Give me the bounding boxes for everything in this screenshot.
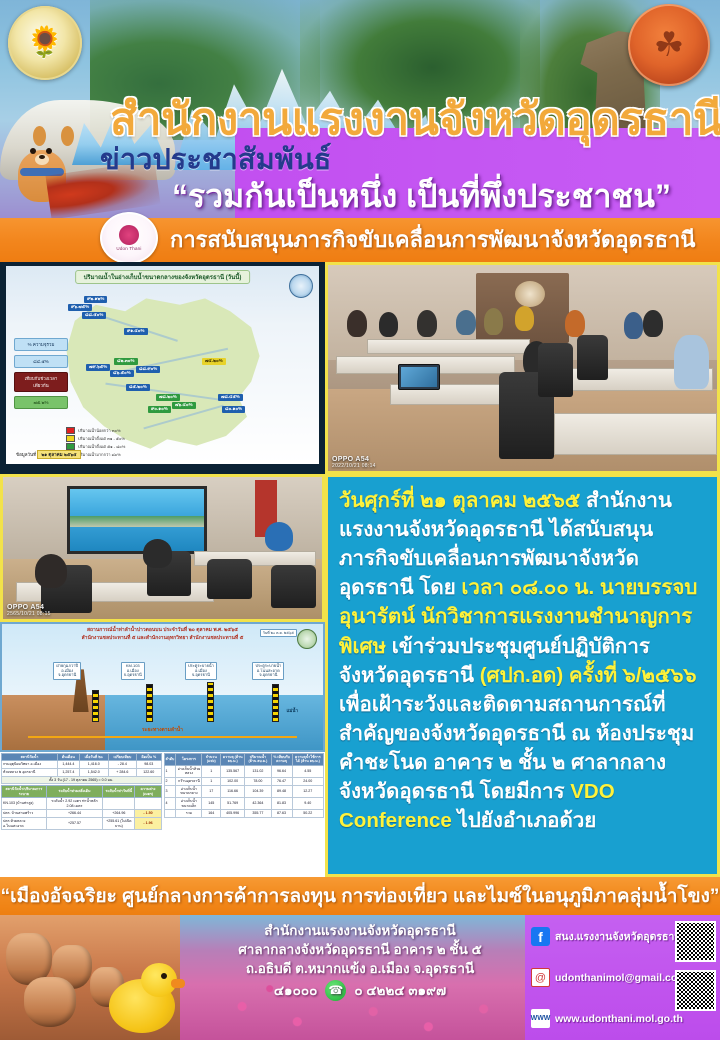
table-row: 2กว๊านอุดรธานี1102.0078.0076.4724.00	[164, 777, 324, 785]
table-row: ปตร. บ้านสามพร้าว+266.44+264.96- 1.50	[2, 810, 162, 818]
reservoir-capacity-table: ลำดับโครงการจำนวน (แห่ง)ความจุ (ล้าน ลบ.…	[164, 753, 325, 818]
diagram-title-line2: สำนักงานชลประทานที่ ๕ และสำนักงานอุทกวิท…	[82, 635, 244, 641]
table-cell: 1,444.4	[58, 761, 80, 769]
map-district-pill: ๘๘.๕๐%	[82, 312, 106, 319]
legend-swatch	[66, 435, 75, 442]
table-header-cell: ปริมาณน้ำ (ล้าน ลบ.ม.)	[245, 754, 271, 766]
mascot-ear-right	[61, 126, 74, 146]
phone-number: ๐ ๔๒๒๔ ๓๑๙๗	[354, 981, 446, 1000]
photo-chair	[538, 343, 573, 397]
table-row: ตั้ง 3 วัน (17 - 19 ตุลาคม 2565) = 0.0 ม…	[2, 776, 162, 784]
table-header-cell: ระดับน้ำท่วมตลิ่งเดิม	[46, 786, 102, 798]
table-cell: กว๊านอุดรธานี	[176, 777, 202, 785]
table-cell: 89.48	[271, 785, 292, 797]
table-header-cell: ลำดับ	[164, 754, 176, 766]
table-cell: 87.63	[271, 810, 292, 818]
address-line-3: ถ.อธิบดี ต.หมากแข้ง อ.เมือง จ.อุดรธานี	[195, 959, 525, 978]
diagram-gauge-post	[207, 682, 214, 722]
udon-thani-province-seal: ☘	[628, 4, 710, 86]
table-header-cell: ความจุน้ำใช้การได้ (ล้าน ลบ.ม.)	[292, 754, 323, 766]
rubber-duck-photo	[105, 963, 181, 1035]
projection-screen	[67, 486, 207, 554]
map-district-pill: ๘๖.๕๐%	[110, 370, 134, 377]
qr-pattern	[677, 972, 714, 1009]
photo-attendee	[484, 308, 503, 335]
table-cell: +257.57	[46, 817, 102, 829]
diagram-title-line1: สถานการณ์น้ำท่าลำน้ำปาวตอนบน ประจำวันที่…	[87, 627, 238, 633]
photo2-watermark: OPPO A54 2565/10/21 08:15	[7, 604, 51, 617]
table-cell	[135, 797, 161, 809]
diagram-route-label: ระยะทางตามลำน้ำ	[142, 726, 183, 734]
reservoir-map-card: ปริมาณน้ำในอ่างเก็บน้ำขนาดกลางของจังหวัด…	[0, 262, 325, 474]
table-cell: + 284.6	[108, 768, 136, 776]
ministry-of-labour-emblem: 🌻	[8, 6, 82, 80]
map-district-pill: ๙๖.๗๕%	[68, 304, 92, 311]
diagram-gauge-post	[272, 684, 279, 722]
table-cell: 98.03	[137, 761, 161, 769]
news-text-segment: วันศุกร์ที่ ๒๑ ตุลาคม ๒๕๖๕	[339, 489, 586, 512]
table-cell: 116.66	[221, 785, 245, 797]
website-label[interactable]: www.udonthani.mol.go.th	[555, 1013, 683, 1025]
station-province: จ.อุดรธานี	[259, 672, 277, 677]
table-cell: 4.55	[292, 765, 323, 777]
map-compare-label: เทียบกับช่วงเวลาเดียวกัน	[14, 372, 68, 392]
table-cell: ระดับน้ำ 2.92 เมตร ท่าน้ำหลัก 2.08 เมตร	[46, 797, 102, 809]
photo-attendee	[515, 306, 534, 331]
table-row: สถานีวัดน้ำต้นเดือนเมื่อวันที่ ๒๐เปรียบเ…	[2, 754, 162, 761]
table-cell: 102.00	[221, 777, 245, 785]
province-slogan-bar: “เมืองอัจฉริยะ ศูนย์กลางการค้าการลงทุน ก…	[0, 877, 720, 915]
map-title: ปริมาณน้ำในอ่างเก็บน้ำขนาดกลางของจังหวัด…	[75, 270, 251, 284]
table-cell: 1	[202, 777, 221, 785]
qr-pattern	[677, 923, 714, 960]
news-text-segment: เพื่อเฝ้าระวังและติดตามสถานการณ์ที่สำคัญ…	[339, 693, 694, 803]
table-header-cell: ความต่าง (เมตร)	[135, 786, 161, 798]
table-cell: 135.567	[221, 765, 245, 777]
map-percent-label: % ความจุรวม	[14, 338, 68, 351]
table-cell: KN.103 (บ้านท่าสูง)	[2, 797, 47, 809]
table-cell: อ่างเก็บน้ำขนาดเล็ก	[176, 797, 202, 809]
table-left-wrap: สถานีวัดน้ำต้นเดือนเมื่อวันที่ ๒๐เปรียบเ…	[0, 752, 163, 877]
table-cell	[164, 810, 176, 818]
table-header-cell: เปรียบเทียบ	[108, 754, 136, 761]
photo2-attendee	[35, 554, 67, 588]
table-cell: อ่างเก็บน้ำห้วยหลวง	[176, 765, 202, 777]
photo-laptop	[398, 364, 440, 390]
table-cell: ห้วยหลวง ๒ อุดรธานี	[2, 768, 58, 776]
table-header-cell: สถานีวัดน้ำ	[2, 754, 58, 761]
map-date-value: ๒๑ ตุลาคม ๒๕๖๕	[37, 450, 80, 459]
table-cell: 405.996	[221, 810, 245, 818]
water-level-diagram-card: สถานการณ์น้ำท่าลำน้ำปาวตอนบน ประจำวันที่…	[0, 622, 325, 752]
map-legend-row: ปริมาณน้ำตั้งแต่ ๓๑ - ๕๐%	[66, 435, 125, 442]
photo-table	[554, 413, 717, 454]
water-data-tables: สถานีวัดน้ำต้นเดือนเมื่อวันที่ ๒๐เปรียบเ…	[0, 752, 325, 877]
table-body: 1อ่างเก็บน้ำห้วยหลวง1135.567131.0296.644…	[164, 765, 324, 817]
map-percent-value: ๘๔.๕%	[14, 355, 68, 368]
table-cell: 1	[202, 765, 221, 777]
photo2-chair	[271, 565, 316, 608]
station-province: จ.อุดรธานี	[124, 672, 142, 677]
legend-label: ปริมาณน้ำตั้งแต่ ๓๑ - ๕๐%	[78, 435, 125, 442]
table-row: 4อ่างเก็บน้ำขนาดเล็ก14551.76942.36481.83…	[164, 797, 324, 809]
table-cell: 51.769	[221, 797, 245, 809]
badge-caption: Udon Thani	[116, 246, 141, 251]
diagram-agency-seal	[297, 629, 317, 649]
legend-label: ปริมาณน้ำตั้งแต่ ๕๑ - ๘๐%	[78, 443, 125, 450]
duck-beak	[171, 979, 185, 988]
udon-thani-brand-badge: Udon Thani	[100, 212, 158, 264]
map-district-pill: ๙๐.๑๐%	[148, 406, 171, 413]
table-cell: +264.96	[103, 810, 135, 818]
table-cell: 17	[202, 785, 221, 797]
table-cell: 1	[164, 765, 176, 777]
table-header-cell: ต้นเดือน	[58, 754, 80, 761]
photo-attendee	[456, 310, 475, 335]
map-district-pill: ๗๖.๔๐%	[172, 402, 196, 409]
page-title: สำนักงานแรงงานจังหวัดอุดรธานี	[110, 98, 720, 142]
legend-label: ปริมาณน้ำมากกว่า ๘๐%	[78, 451, 121, 458]
photo-attendee	[674, 335, 709, 389]
header-slogan: “รวมกันเป็นหนึ่ง เป็นที่พึ่งประชาชน”	[172, 180, 671, 212]
photo-attendee	[643, 310, 662, 337]
duck-eye	[161, 973, 167, 979]
table-cell: 12.27	[292, 785, 323, 797]
garuda-glyph: 🌻	[26, 28, 63, 58]
rainfall-table: สถานีวัดน้ำต้นเดือนเมื่อวันที่ ๒๐เปรียบเ…	[1, 753, 162, 784]
diagram-station-label: ฝายกุมภวาปีอ.เมืองจ.อุดรธานี	[53, 662, 81, 680]
header-subtitle: ข่าวประชาสัมพันธ์	[100, 146, 331, 175]
email-row[interactable]: @ udonthanimol@gmail.com	[531, 968, 687, 987]
table-header-cell: % เทียบกับ ความจุ	[271, 754, 292, 766]
table-row: ลำดับโครงการจำนวน (แห่ง)ความจุ (ล้าน ลบ.…	[164, 754, 324, 766]
photo-attendee	[379, 312, 398, 337]
header-banner: 🌻 ☘ สำนักงานแรงงานจังหวัดอุดรธานี ข่าวปร…	[0, 0, 720, 218]
waterlevel-table: สถานีวัดน้ำ/ปริมาณการระบายระดับน้ำท่วมตล…	[1, 785, 162, 830]
address-line-1: สำนักงานแรงงานจังหวัดอุดรธานี	[195, 921, 525, 940]
map-date: ข้อมูลวันที่ ๒๑ ตุลาคม ๒๕๖๕	[16, 451, 81, 458]
table-cell: 3	[164, 785, 176, 797]
table-header-cell: คิดเป็น %	[137, 754, 161, 761]
table-cell: 9.40	[292, 797, 323, 809]
map-compare-value: ๗๕.๒%	[14, 396, 68, 409]
table-cell: - 1.50	[135, 810, 161, 818]
map-legend-row: ปริมาณน้ำตั้งแต่ ๕๑ - ๘๐%	[66, 443, 125, 450]
photo-attendee	[565, 310, 584, 337]
table-cell: ปตร. บ้านสามพร้าว	[2, 810, 47, 818]
table-header-cell: สถานีวัดน้ำ/ปริมาณการระบาย	[2, 786, 47, 798]
qr-code-facebook[interactable]	[675, 921, 716, 962]
footer-contact: สำนักงานแรงงานจังหวัดอุดรธานี ศาลากลางจั…	[0, 915, 720, 1040]
table-row: สถานีวัดน้ำ/ปริมาณการระบายระดับน้ำท่วมตล…	[2, 786, 162, 798]
map-legend-row: ปริมาณน้ำน้อยกว่า ๓๐%	[66, 427, 125, 434]
diagram-route-bar: ระยะทางตามลำน้ำ	[28, 733, 298, 741]
diagram-title: สถานการณ์น้ำท่าลำน้ำปาวตอนบน ประจำวันที่…	[82, 627, 244, 642]
table-row: กรมอุตุนิยมวิทยา อ.เมือง1,444.41,416.0- …	[2, 761, 162, 769]
table-cell	[103, 797, 135, 809]
topic-title: การสนับสนุนภารกิจขับเคลื่อนการพัฒนาจังหว…	[170, 229, 695, 251]
photo-watermark-device: OPPO A54	[332, 456, 369, 463]
table-cell: +266.44	[46, 810, 102, 818]
mascot-ear-left	[33, 126, 46, 146]
globe-icon[interactable]: WWW	[531, 1009, 550, 1028]
table-cell: รวม	[176, 810, 202, 818]
station-province: จ.อุดรธานี	[58, 672, 76, 677]
email-icon[interactable]: @	[531, 968, 550, 987]
photo-attendee	[347, 310, 366, 337]
photo2-watermark-time: 2565/10/21 08:15	[7, 611, 51, 617]
table-cell: ปตร.ห้วยหลวง อ.โนนสะอาด	[2, 817, 47, 829]
news-text-segment: (ศปก.อด) ครั้งที่ ๖/๒๕๖๖	[480, 664, 697, 687]
office-address-block: สำนักงานแรงงานจังหวัดอุดรธานี ศาลากลางจั…	[195, 921, 525, 1001]
table-cell: 131.02	[245, 765, 271, 777]
map-district-pill: ๘๐.๑๐%	[222, 406, 245, 413]
diagram-date-tag: วันที่ ๒๐ ต.ค. ๒๕๖๕	[260, 629, 297, 637]
legend-label: ปริมาณน้ำน้อยกว่า ๓๐%	[78, 427, 121, 434]
topic-bar: Udon Thani การสนับสนุนภารกิจขับเคลื่อนกา…	[0, 218, 720, 262]
mascot-eye-left	[30, 148, 36, 154]
diagram-station-label: ประตูระบายน้ำอ.โนนสะอาดจ.อุดรธานี	[252, 662, 284, 680]
facebook-label[interactable]: สนง.แรงงานจังหวัดอุดรธานี	[555, 928, 682, 945]
table-row: ห้วยหลวง ๒ อุดรธานี1,257.41,542.0+ 284.6…	[2, 768, 162, 776]
table-header-cell: เมื่อวันที่ ๒๐	[79, 754, 108, 761]
poster-root: 🌻 ☘ สำนักงานแรงงานจังหวัดอุดรธานี ข่าวปร…	[0, 0, 720, 1040]
projected-image-content	[70, 516, 204, 527]
qr-code-website[interactable]	[675, 970, 716, 1011]
diagram-station-label: KM.103อ.เมืองจ.อุดรธานี	[121, 662, 145, 680]
table-cell: 145	[202, 797, 221, 809]
table-cell: 50.22	[292, 810, 323, 818]
table-cell: 122.60	[137, 768, 161, 776]
table-header-cell: โครงการ	[176, 754, 202, 766]
phone-row: ๔๑๐๐๐ ☎ ๐ ๔๒๒๔ ๓๑๙๗	[195, 980, 525, 1001]
news-text-segment: ไปยังอำเภอด้วย	[457, 809, 596, 832]
map-district-pill: ๗๔.๒๐%	[202, 358, 226, 365]
map-district-pill: ๘๕.๒๐%	[126, 384, 150, 391]
station-province: จ.อุดรธานี	[192, 672, 210, 677]
irrigation-department-seal	[289, 274, 313, 298]
diagram-gauge-post	[92, 690, 99, 723]
photo2-attendee	[265, 522, 294, 550]
province-seal-glyph: ☘	[654, 28, 684, 62]
legend-swatch	[66, 427, 75, 434]
table-cell: - 1.96	[135, 817, 161, 829]
table-cell: 2	[164, 777, 176, 785]
email-label[interactable]: udonthanimol@gmail.com	[555, 972, 687, 984]
legend-swatch	[66, 443, 75, 450]
table-cell: 1,257.4	[58, 768, 80, 776]
table-cell: +255.61 (ไม่เปิดบาน)	[103, 817, 135, 829]
table-header-cell: ระดับน้ำท่าวันที่นี้	[103, 786, 135, 798]
map-district-pill: ๗๘.๒๐%	[156, 394, 180, 401]
table-cell: 4	[164, 797, 176, 809]
photo-watermark-time: 2022/10/21 08:14	[332, 463, 376, 469]
news-body-text: วันศุกร์ที่ ๒๑ ตุลาคม ๒๕๖๕ สำนักงานแรงงา…	[339, 486, 707, 835]
content-area: ปริมาณน้ำในอ่างเก็บน้ำขนาดกลางของจังหวัด…	[0, 262, 720, 877]
table-row: 3อ่างเก็บน้ำขนาดกลาง17116.66104.3989.481…	[164, 785, 324, 797]
table-row: รวม164405.996355.7787.6350.22	[164, 810, 324, 818]
table-cell: 78.00	[245, 777, 271, 785]
website-row[interactable]: WWW www.udonthani.mol.go.th	[531, 1009, 683, 1028]
table-cell: กรมอุตุนิยมวิทยา อ.เมือง	[2, 761, 58, 769]
mascot-eye-right	[46, 148, 52, 154]
contact-links-panel: f สนง.แรงงานจังหวัดอุดรธานี @ udonthanim…	[525, 915, 720, 1040]
diagram-ground	[2, 695, 105, 750]
table-cell: 81.83	[271, 797, 292, 809]
photo2-watermark-device: OPPO A54	[7, 604, 44, 611]
table-header-cell: จำนวน (แห่ง)	[202, 754, 221, 766]
map-district-pill: ๙๑.๔๐%	[124, 328, 148, 335]
table-cell: 42.364	[245, 797, 271, 809]
table-cell: อ่างเก็บน้ำขนาดกลาง	[176, 785, 202, 797]
table-row: ปตร.ห้วยหลวง อ.โนนสะอาด+257.57+255.61 (ไ…	[2, 817, 162, 829]
pot	[24, 977, 76, 1027]
table-cell: 1,542.0	[79, 768, 108, 776]
province-slogan-text: “เมืองอัจฉริยะ ศูนย์กลางการค้าการลงทุน ก…	[1, 887, 720, 906]
map-district-pill: ๘๒.๓๐%	[114, 358, 138, 365]
photo-attendee	[624, 312, 643, 339]
table-right-wrap: ลำดับโครงการจำนวน (แห่ง)ความจุ (ล้าน ลบ.…	[163, 752, 326, 877]
flower-icon	[119, 225, 139, 245]
diagram-route-line	[28, 736, 298, 738]
table-header-cell: ความจุ (ล้าน ลบ.ม.)	[221, 754, 245, 766]
postcode: ๔๑๐๐๐	[274, 981, 318, 1000]
map-date-label: ข้อมูลวันที่	[16, 452, 36, 457]
table-row: KN.103 (บ้านท่าสูง)ระดับน้ำ 2.92 เมตร ท่…	[2, 797, 162, 809]
photo2-chair	[207, 559, 252, 599]
news-body-panel: วันศุกร์ที่ ๒๑ ตุลาคม ๒๕๖๕ สำนักงานแรงงา…	[325, 474, 720, 877]
table-cell: 1,416.0	[79, 761, 108, 769]
facebook-icon[interactable]: f	[531, 927, 550, 946]
photo-laptop-screen	[401, 367, 437, 387]
table-cell: - 28.4	[108, 761, 136, 769]
diagram-gauge-post	[146, 684, 153, 722]
photo2-attendee	[143, 539, 172, 567]
table-cell: 164	[202, 810, 221, 818]
table-note-cell: ตั้ง 3 วัน (17 - 19 ตุลาคม 2565) = 0.0 ม…	[2, 776, 162, 784]
table-body: กรมอุตุนิยมวิทยา อ.เมือง1,444.41,416.0- …	[2, 761, 162, 784]
photo-attendee	[417, 310, 436, 337]
table-cell: 96.64	[271, 765, 292, 777]
map-summary-boxes: % ความจุรวม ๘๔.๕% เทียบกับช่วงเวลาเดียวก…	[14, 338, 68, 409]
meeting-room-photo-main: OPPO A54 2022/10/21 08:14	[325, 262, 720, 474]
table-body: KN.103 (บ้านท่าสูง)ระดับน้ำ 2.92 เมตร ท่…	[2, 797, 162, 829]
map-district-pill: ๙๒.๑๒%	[84, 296, 107, 303]
map-district-pill: ๗๘.๔๕%	[218, 394, 243, 401]
mascot-nose	[39, 155, 45, 159]
phone-icon: ☎	[325, 980, 346, 1001]
map-district-pill: ๘๘.๙๐%	[136, 366, 160, 373]
facebook-row[interactable]: f สนง.แรงงานจังหวัดอุดรธานี	[531, 927, 682, 946]
table-cell: 355.77	[245, 810, 271, 818]
diagram-station-label: ประตูระบายน้ำอ.เมืองจ.อุดรธานี	[185, 662, 217, 680]
table-cell: 24.00	[292, 777, 323, 785]
photo-chair	[577, 335, 608, 380]
table-row: 1อ่างเก็บน้ำห้วยหลวง1135.567131.0296.644…	[164, 765, 324, 777]
table-cell: 104.39	[245, 785, 271, 797]
diagram-river-label: แม่น้ำ	[284, 707, 299, 714]
photo-table	[367, 339, 530, 353]
photo-watermark: OPPO A54 2022/10/21 08:14	[332, 456, 376, 469]
map-district-pill: ๗๙.๖๕%	[86, 364, 110, 371]
address-line-2: ศาลากลางจังหวัดอุดรธานี อาคาร ๒ ชั้น ๕	[195, 940, 525, 959]
table-cell: 76.47	[271, 777, 292, 785]
reservoir-map-inner: ปริมาณน้ำในอ่างเก็บน้ำขนาดกลางของจังหวัด…	[6, 266, 319, 464]
meeting-room-photo-secondary: OPPO A54 2565/10/21 08:15	[0, 474, 325, 622]
